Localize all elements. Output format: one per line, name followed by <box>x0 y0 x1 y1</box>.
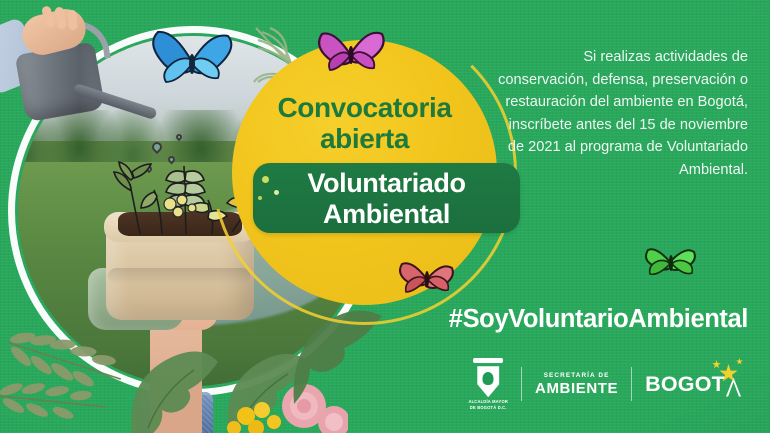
subtitle-line-1: Voluntariado <box>253 168 520 199</box>
star-icon-small <box>712 360 721 369</box>
alcaldia-line-2: DE BOGOTÁ D.C. <box>468 405 508 410</box>
campaign-headline: Convocatoria abierta <box>238 92 491 154</box>
shield-crown-icon <box>473 358 503 363</box>
subtitle-line-2: Ambiental <box>253 199 520 230</box>
secretaria-line-1: SECRETARÍA DE <box>535 372 618 380</box>
accent-dot <box>274 190 279 195</box>
campaign-banner: Convocatoria abierta Voluntariado Ambien… <box>0 0 770 433</box>
alcaldia-logo-text: ALCALDÍA MAYOR DE BOGOTÁ D.C. <box>468 399 508 409</box>
accent-dot <box>258 196 262 200</box>
secretaria-ambiente-logo: SECRETARÍA DE AMBIENTE <box>522 363 631 405</box>
logo-bar: ALCALDÍA MAYOR DE BOGOTÁ D.C. SECRETARÍA… <box>455 361 754 407</box>
bogota-shield-icon <box>475 366 501 397</box>
bogota-logo: BOGOT <box>632 363 754 405</box>
secretaria-line-2: AMBIENTE <box>535 380 618 397</box>
finger <box>67 10 77 31</box>
campaign-hashtag: #SoyVoluntarioAmbiental <box>328 305 748 334</box>
alcaldia-logo: ALCALDÍA MAYOR DE BOGOTÁ D.C. <box>455 363 521 405</box>
headline-line-1: Convocatoria <box>238 92 491 123</box>
bogota-logo-text: BOGOT <box>645 373 725 395</box>
alcaldia-line-1: ALCALDÍA MAYOR <box>468 399 508 404</box>
accent-dot <box>262 176 269 183</box>
campaign-subtitle: Voluntariado Ambiental <box>253 168 520 230</box>
flower-illustration <box>150 190 210 226</box>
campaign-paragraph: Si realizas actividades de conservación,… <box>492 46 748 182</box>
green-butterfly-icon <box>638 238 710 288</box>
watering-can-body <box>15 42 106 123</box>
paper-bag-fold <box>108 268 250 284</box>
headline-line-2: abierta <box>238 123 491 154</box>
star-icon-small <box>736 358 743 365</box>
